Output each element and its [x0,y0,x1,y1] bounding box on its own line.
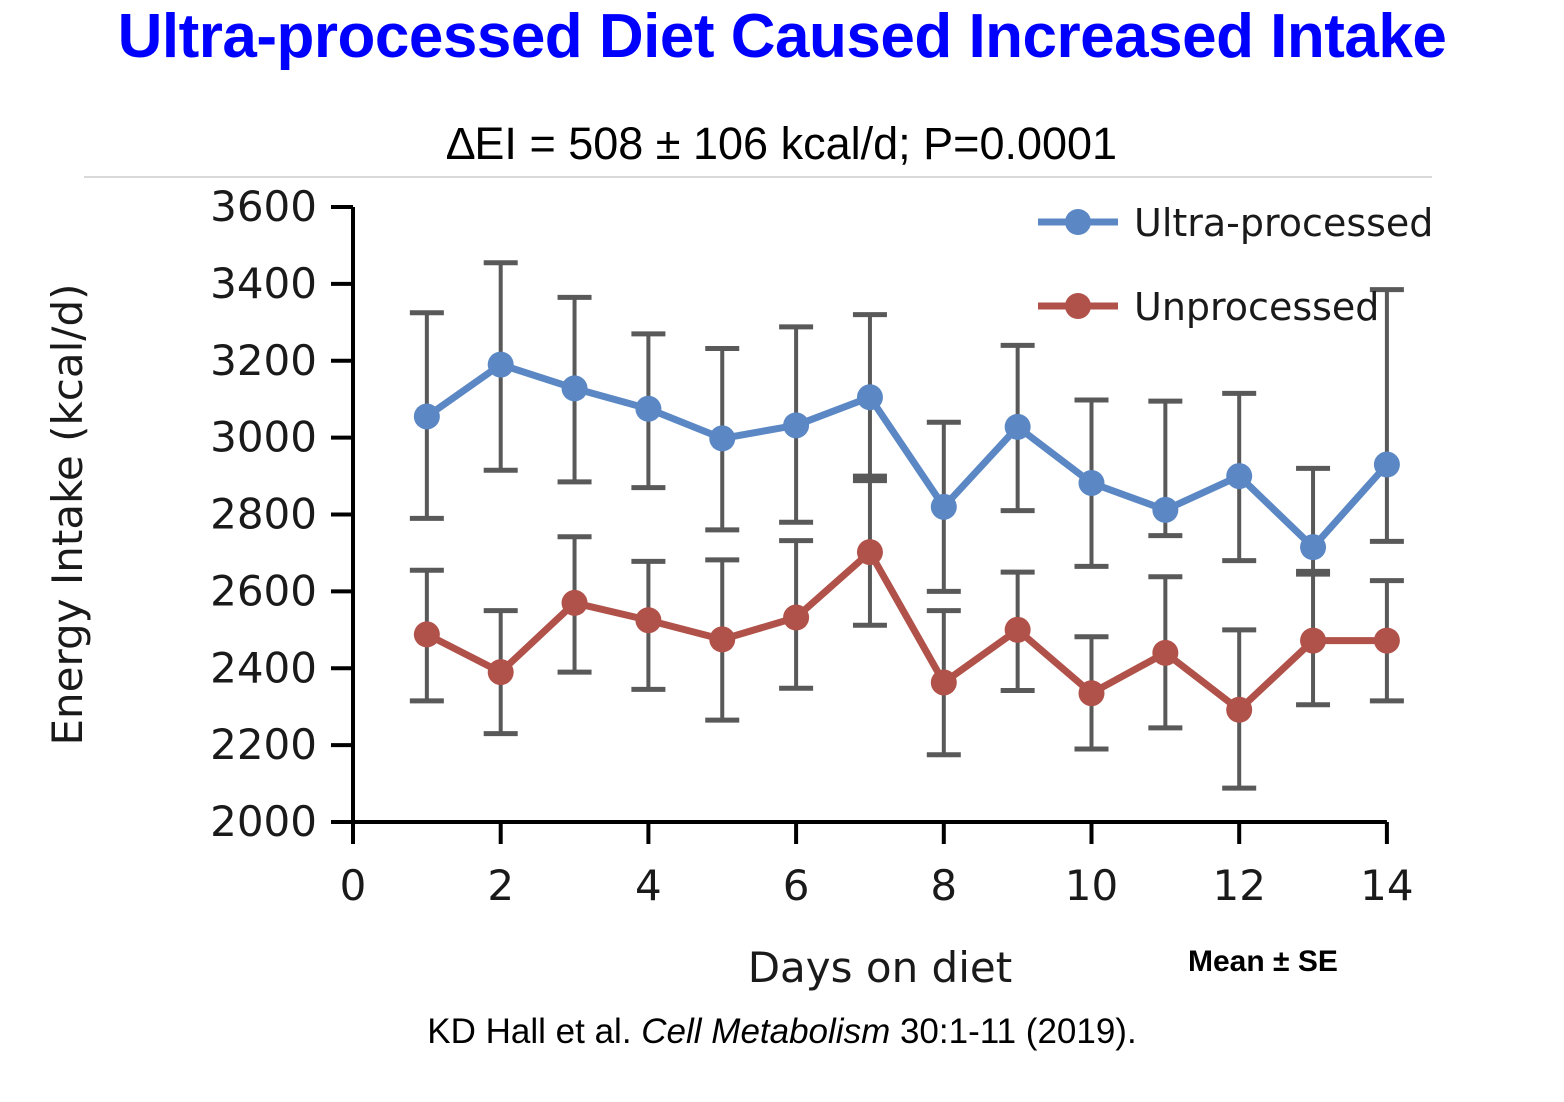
data-point [488,352,514,378]
series-ultra-processed [414,352,1400,561]
mean-se-annotation: Mean ± SE [1188,945,1338,979]
y-tick-label: 2400 [210,643,317,692]
x-tick-label: 2 [487,861,514,910]
chart-subtitle-statistic: ∆EI = 508 ± 106 kcal/d; P=0.0001 [0,118,1564,170]
y-axis-tick-labels: 200022002400260028003000320034003600 [210,182,317,846]
x-tick-label: 12 [1212,861,1265,910]
y-tick-label: 2600 [210,566,317,615]
chart-figure: 200022002400260028003000320034003600 024… [0,180,1564,1000]
x-axis-title: Days on diet [748,943,1012,992]
data-point [1079,470,1105,496]
data-point [1152,497,1178,523]
data-point [857,384,883,410]
legend-marker [1065,293,1091,319]
y-axis-ticks [331,207,353,822]
x-tick-label: 4 [635,861,662,910]
y-tick-label: 2000 [210,797,317,846]
data-point [1374,452,1400,478]
x-tick-label: 6 [783,861,810,910]
legend-label: Unprocessed [1134,285,1379,329]
legend-label: Ultra-processed [1134,201,1433,245]
data-point [414,621,440,647]
data-point [635,607,661,633]
data-point [1079,680,1105,706]
data-point [562,590,588,616]
chart-legend: Ultra-processedUnprocessed [1038,201,1433,329]
data-point [783,412,809,438]
citation-journal: Cell Metabolism [641,1012,890,1051]
data-point [1374,628,1400,654]
x-tick-label: 0 [340,861,367,910]
data-point [1226,463,1252,489]
data-point [1152,640,1178,666]
x-tick-label: 8 [930,861,957,910]
data-point [931,669,957,695]
data-point [931,494,957,520]
x-tick-label: 10 [1065,861,1118,910]
y-axis-title: Energy Intake (kcal/d) [43,283,92,745]
data-point [709,425,735,451]
x-axis-ticks [353,822,1387,844]
y-tick-label: 3000 [210,413,317,462]
data-point [1226,697,1252,723]
citation-volume-year: 30:1-11 (2019). [890,1012,1136,1051]
citation: KD Hall et al. Cell Metabolism 30:1-11 (… [0,1012,1564,1052]
data-point [783,605,809,631]
y-tick-label: 2800 [210,490,317,539]
data-point [1005,617,1031,643]
data-point [857,539,883,565]
data-point [488,659,514,685]
data-point [414,403,440,429]
slide-root: Ultra-processed Diet Caused Increased In… [0,0,1564,1102]
data-point [1300,534,1326,560]
page-title: Ultra-processed Diet Caused Increased In… [0,4,1564,69]
x-tick-label: 14 [1360,861,1413,910]
y-tick-label: 3400 [210,259,317,308]
citation-authors: KD Hall et al. [427,1012,641,1051]
y-tick-label: 3200 [210,336,317,385]
x-axis-tick-labels: 02468101214 [340,861,1414,910]
data-point [1005,414,1031,440]
y-tick-label: 2200 [210,720,317,769]
error-bars [410,263,1404,788]
horizontal-divider [84,176,1432,178]
data-point [562,375,588,401]
legend-item: Ultra-processed [1038,201,1433,245]
data-point [1300,628,1326,654]
legend-item: Unprocessed [1038,285,1379,329]
data-point [635,396,661,422]
legend-marker [1065,209,1091,235]
data-point [709,626,735,652]
line-chart-svg: 200022002400260028003000320034003600 024… [0,180,1564,1000]
y-tick-label: 3600 [210,182,317,231]
